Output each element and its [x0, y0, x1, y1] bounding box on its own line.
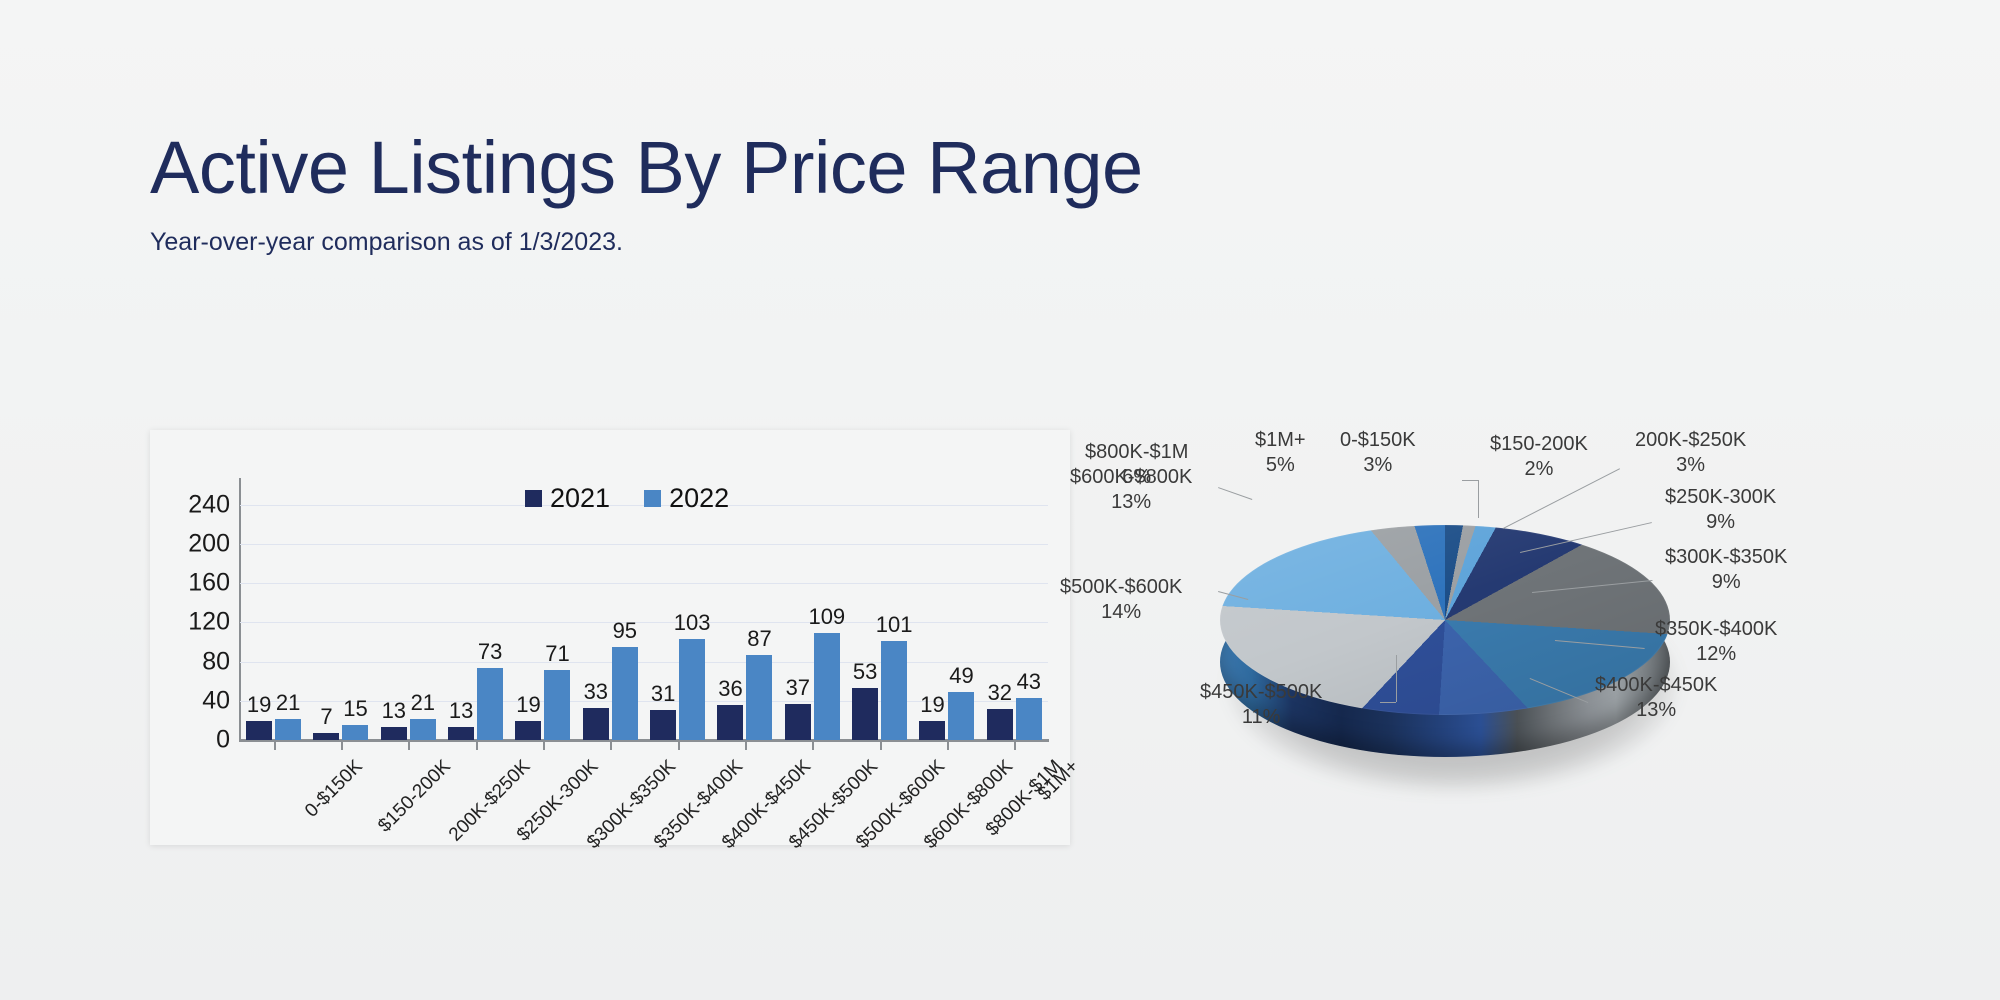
bar-2021[interactable]: 32 [987, 709, 1013, 740]
x-axis-tick [880, 742, 882, 750]
bar-value-label: 19 [247, 692, 271, 718]
bar-value-label: 19 [920, 692, 944, 718]
pie-callout-label: 200K-$250K [1635, 429, 1746, 451]
bar-2022[interactable]: 109 [814, 633, 840, 740]
bar-2022[interactable]: 95 [612, 647, 638, 740]
pie-callout-percent: 3% [1340, 453, 1416, 478]
bar-value-label: 15 [343, 696, 367, 722]
bar-value-label: 95 [613, 618, 637, 644]
bar-value-label: 53 [853, 659, 877, 685]
y-axis-tick-label: 160 [160, 569, 230, 598]
bar-2022[interactable]: 43 [1016, 698, 1042, 740]
x-axis-tick [678, 742, 680, 750]
legend-label: 2021 [550, 483, 610, 514]
pie-callout-percent: 12% [1655, 642, 1777, 667]
bar-2021[interactable]: 53 [852, 688, 878, 740]
pie-callout-250k-300k: $250K-300K9% [1665, 485, 1776, 535]
bar-value-label: 43 [1017, 669, 1041, 695]
pie-callout-label: $400K-$450K [1595, 674, 1717, 696]
legend-swatch-icon [525, 490, 542, 507]
pie-callout-600k-800k: $600K-$800K13% [1070, 465, 1192, 515]
bar-2021[interactable]: 31 [650, 710, 676, 740]
bar-2021[interactable]: 19 [515, 721, 541, 740]
pie-callout-label: $300K-$350K [1665, 546, 1787, 568]
x-axis-tick [274, 742, 276, 750]
legend-item-2022[interactable]: 2022 [644, 483, 729, 514]
pie-callout-1m-plus: $1M+5% [1255, 428, 1306, 478]
x-axis-tick [476, 742, 478, 750]
pie-leader-line [1396, 655, 1397, 702]
x-axis-tick [745, 742, 747, 750]
bar-value-label: 21 [276, 690, 300, 716]
pie-callout-label: $350K-$400K [1655, 618, 1777, 640]
pie-callout-percent: 3% [1635, 453, 1746, 478]
y-axis-tick-label: 0 [160, 726, 230, 755]
bar-2021[interactable]: 13 [448, 727, 474, 740]
pie-callout-label: 0-$150K [1340, 429, 1416, 451]
bar-2022[interactable]: 73 [477, 668, 503, 740]
pie-callout-350k-400k: $350K-$400K12% [1655, 617, 1777, 667]
bar-2021[interactable]: 37 [785, 704, 811, 740]
bar-group: 3687 [711, 485, 778, 740]
bar-value-label: 73 [478, 639, 502, 665]
bar-chart-legend: 20212022 [525, 483, 729, 514]
bar-2022[interactable]: 21 [275, 719, 301, 740]
y-axis-tick-label: 200 [160, 529, 230, 558]
y-axis-tick-label: 80 [160, 647, 230, 676]
bar-2022[interactable]: 101 [881, 641, 907, 740]
pie-callout-percent: 11% [1200, 705, 1322, 730]
pie-callout-450k-500k: $450K-$500K11% [1200, 680, 1322, 730]
bar-group: 31103 [644, 485, 711, 740]
bar-value-label: 33 [584, 679, 608, 705]
pie-chart: $800K-$1M6%$1M+5%0-$150K3%$150-200K2%200… [1100, 440, 1980, 890]
x-axis-tick [1014, 742, 1016, 750]
bar-value-label: 49 [949, 663, 973, 689]
bar-value-label: 31 [651, 681, 675, 707]
pie-callout-label: $800K-$1M [1085, 441, 1188, 463]
pie-callout-label: $250K-300K [1665, 486, 1776, 508]
pie-leader-line [1478, 480, 1479, 518]
bar-value-label: 37 [786, 675, 810, 701]
pie-callout-label: $600K-$800K [1070, 466, 1192, 488]
bar-2021[interactable]: 36 [717, 705, 743, 740]
pie-callout-label: $450K-$500K [1200, 681, 1322, 703]
page-title: Active Listings By Price Range [150, 126, 1143, 210]
bar-2022[interactable]: 71 [544, 670, 570, 740]
bar-group: 53101 [846, 485, 913, 740]
bar-2022[interactable]: 87 [746, 655, 772, 740]
bar-value-label: 103 [674, 610, 711, 636]
x-axis-tick [947, 742, 949, 750]
bar-2021[interactable]: 33 [583, 708, 609, 740]
x-axis-tick [408, 742, 410, 750]
legend-label: 2022 [669, 483, 729, 514]
bar-group: 1921 [240, 485, 307, 740]
pie-leader-line [1462, 480, 1478, 481]
y-axis-tick-label: 40 [160, 686, 230, 715]
pie-leader-line [1380, 702, 1396, 703]
pie-callout-percent: 9% [1665, 570, 1787, 595]
pie-callout-percent: 14% [1060, 600, 1182, 625]
pie-callout-percent: 2% [1490, 457, 1588, 482]
bar-group: 1373 [442, 485, 509, 740]
bar-value-label: 19 [516, 692, 540, 718]
bar-value-label: 32 [988, 680, 1012, 706]
pie-callout-500k-600k: $500K-$600K14% [1060, 575, 1182, 625]
bar-group: 1949 [913, 485, 980, 740]
x-axis-tick [610, 742, 612, 750]
bar-group: 37109 [779, 485, 846, 740]
y-axis-tick-label: 120 [160, 608, 230, 637]
bar-2022[interactable]: 15 [342, 725, 368, 740]
pie-callout-percent: 13% [1595, 698, 1717, 723]
y-axis-tick-label: 240 [160, 490, 230, 519]
x-axis-tick [341, 742, 343, 750]
bar-value-label: 21 [411, 690, 435, 716]
page-subtitle: Year-over-year comparison as of 1/3/2023… [150, 228, 1143, 257]
bar-value-label: 101 [876, 612, 913, 638]
pie-leader-line [1218, 487, 1252, 500]
bar-value-label: 13 [382, 698, 406, 724]
pie-callout-150-200k: $150-200K2% [1490, 432, 1588, 482]
bar-2021[interactable]: 19 [919, 721, 945, 740]
pie-callout-400k-450k: $400K-$450K13% [1595, 673, 1717, 723]
bar-group: 3243 [981, 485, 1048, 740]
bar-chart-plot-area: 1921715132113731971339531103368737109531… [240, 485, 1048, 740]
bar-value-label: 109 [808, 604, 845, 630]
bar-group: 3395 [577, 485, 644, 740]
bar-group: 1971 [509, 485, 576, 740]
bar-2021[interactable]: 13 [381, 727, 407, 740]
bar-chart-y-axis: 04080120160200240 [150, 485, 230, 740]
pie-callout-200k-250k: 200K-$250K3% [1635, 428, 1746, 478]
bar-2022[interactable]: 49 [948, 692, 974, 740]
x-axis-tick [543, 742, 545, 750]
bar-value-label: 71 [545, 641, 569, 667]
pie-callout-300k-350k: $300K-$350K9% [1665, 545, 1787, 595]
bar-value-label: 7 [320, 704, 332, 730]
pie-callout-label: $500K-$600K [1060, 576, 1182, 598]
pie-callout-label: $1M+ [1255, 429, 1306, 451]
bar-2022[interactable]: 103 [679, 639, 705, 740]
bar-value-label: 13 [449, 698, 473, 724]
header: Active Listings By Price Range Year-over… [150, 126, 1143, 257]
pie-callout-percent: 13% [1070, 490, 1192, 515]
bar-group: 715 [307, 485, 374, 740]
pie-chart-graphic [1220, 525, 1670, 785]
pie-callout-percent: 9% [1665, 510, 1776, 535]
legend-swatch-icon [644, 490, 661, 507]
legend-item-2021[interactable]: 2021 [525, 483, 610, 514]
bar-value-label: 87 [747, 626, 771, 652]
pie-callout-0-150k: 0-$150K3% [1340, 428, 1416, 478]
bar-group: 1321 [375, 485, 442, 740]
x-axis-tick [812, 742, 814, 750]
bar-2021[interactable]: 7 [313, 733, 339, 740]
pie-callout-label: $150-200K [1490, 433, 1588, 455]
bar-2022[interactable]: 21 [410, 719, 436, 740]
bar-2021[interactable]: 19 [246, 721, 272, 740]
pie-callout-percent: 5% [1255, 453, 1306, 478]
bar-value-label: 36 [718, 676, 742, 702]
